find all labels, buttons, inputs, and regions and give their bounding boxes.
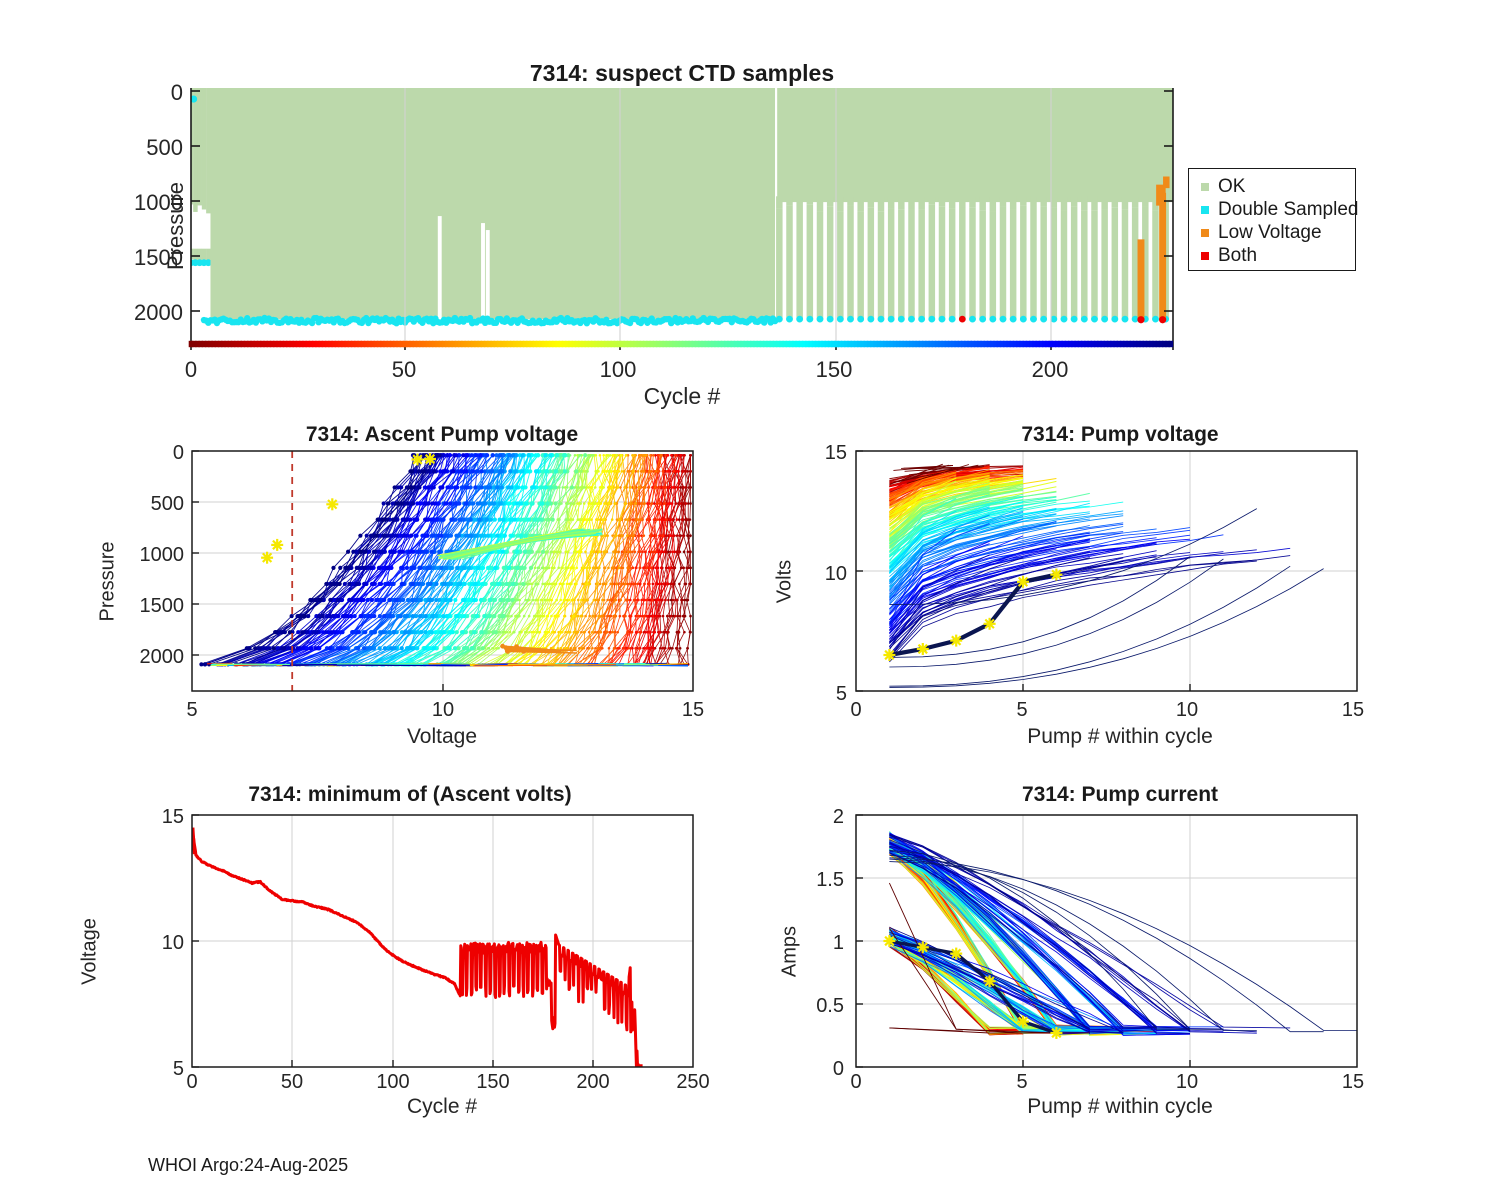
legend-row-ok: OK xyxy=(1201,177,1245,196)
panel-min-ascent-volts: 7314: minimum of (Ascent volts) Voltage … xyxy=(0,765,750,1135)
legend-suspect: OK Double Sampled Low Voltage Both xyxy=(1188,168,1356,271)
plot-min-ascent-volts xyxy=(0,765,750,1135)
legend-swatch-ok xyxy=(1201,183,1209,191)
legend-row-both: Both xyxy=(1201,246,1257,265)
panel-suspect-ctd-samples: 7314: suspect CTD samples Pressure Cycle… xyxy=(0,0,1500,400)
plot-pump-current xyxy=(750,765,1500,1135)
legend-label-ok: OK xyxy=(1218,177,1245,196)
panel-ascent-pump-voltage: 7314: Ascent Pump voltage Pressure Volta… xyxy=(0,405,750,765)
legend-swatch-double-sampled xyxy=(1201,206,1209,214)
legend-row-low-voltage: Low Voltage xyxy=(1201,223,1322,242)
panel-pump-voltage: 7314: Pump voltage Volts Pump # within c… xyxy=(750,405,1500,765)
footer-credit: WHOI Argo:24-Aug-2025 xyxy=(148,1155,348,1176)
plot-pump-voltage xyxy=(750,405,1500,765)
legend-row-double-sampled: Double Sampled xyxy=(1201,200,1358,219)
legend-label-low-voltage: Low Voltage xyxy=(1218,223,1322,242)
legend-label-double-sampled: Double Sampled xyxy=(1218,200,1358,219)
legend-swatch-both xyxy=(1201,252,1209,260)
legend-swatch-low-voltage xyxy=(1201,229,1209,237)
panel-pump-current: 7314: Pump current Amps Pump # within cy… xyxy=(750,765,1500,1135)
legend-label-both: Both xyxy=(1218,246,1257,265)
plot-ascent-pump-voltage xyxy=(0,405,750,765)
